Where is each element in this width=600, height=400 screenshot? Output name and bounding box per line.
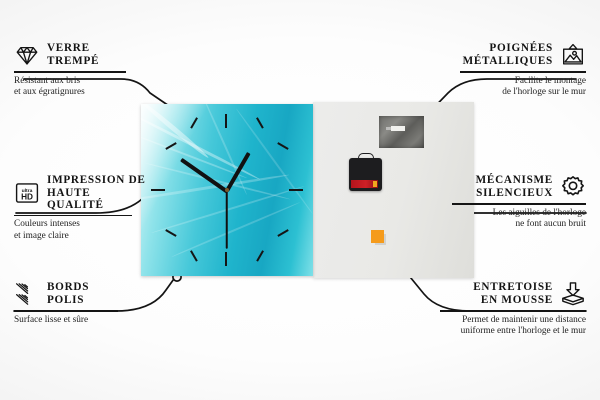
ultra-hd-icon: ultra HD (14, 180, 40, 206)
feature-title: IMPRESSION DE HAUTE QUALITÉ (47, 174, 146, 212)
clock-tick (225, 114, 227, 128)
feature-rule (14, 215, 132, 217)
feature-subtitle: Les aiguilles de l'horloge ne font aucun… (452, 208, 586, 230)
polished-edge-icon (14, 281, 40, 307)
clock-back-panel (313, 102, 474, 278)
feature-rule (452, 203, 586, 205)
clock-second-hand (226, 191, 228, 249)
clock-tick (225, 252, 227, 266)
feature-title: BORDS POLIS (47, 281, 89, 306)
clock-tick (289, 189, 303, 191)
svg-text:HD: HD (21, 193, 33, 202)
clock-tick (151, 189, 165, 191)
feature-subtitle: Facilite le montage de l'horloge sur le … (460, 76, 586, 98)
feature-title: ENTRETOISE EN MOUSSE (473, 281, 553, 306)
battery (351, 180, 378, 188)
feature-subtitle: Couleurs intenses et image claire (14, 219, 146, 241)
clock-mechanism (349, 158, 382, 191)
feature-subtitle: Résistant aux bris et aux égratignures (14, 76, 140, 98)
feature-rule (440, 310, 586, 312)
feature-impression-haute-qualite: ultra HD IMPRESSION DE HAUTE QUALITÉ Cou… (14, 174, 146, 242)
feature-bords-polis: BORDS POLIS Surface lisse et sûre (14, 281, 132, 326)
hanger-loop-icon (358, 153, 374, 162)
metal-hanger-plate (379, 116, 424, 148)
feature-mecanisme-silencieux: MÉCANISME SILENCIEUX Les aiguilles de l'… (452, 174, 586, 230)
infographic-canvas: VERRE TREMPÉ Résistant aux bris et aux é… (0, 0, 600, 400)
feature-poignees-metalliques: POIGNÉES MÉTALLIQUES Facilite le montage… (460, 42, 586, 98)
clock-center-cap (225, 188, 229, 192)
product-image (141, 104, 474, 276)
clock-glass-face (141, 104, 313, 276)
feature-subtitle: Permet de maintenir une distance uniform… (440, 315, 586, 337)
feature-entretoise-en-mousse: ENTRETOISE EN MOUSSE Permet de maintenir… (440, 281, 586, 337)
feature-verre-trempe: VERRE TREMPÉ Résistant aux bris et aux é… (14, 42, 140, 98)
feature-title: VERRE TREMPÉ (47, 42, 99, 67)
framed-picture-icon (560, 42, 586, 68)
feature-title: MÉCANISME SILENCIEUX (476, 174, 553, 199)
feature-subtitle: Surface lisse et sûre (14, 315, 132, 326)
feature-rule (14, 71, 126, 73)
feature-title: POIGNÉES MÉTALLIQUES (463, 42, 553, 67)
diamond-icon (14, 42, 40, 68)
foam-spacer (371, 230, 384, 243)
feature-rule (14, 310, 118, 312)
gear-icon (560, 174, 586, 200)
feature-rule (460, 71, 586, 73)
arrow-onto-pad-icon (560, 281, 586, 307)
